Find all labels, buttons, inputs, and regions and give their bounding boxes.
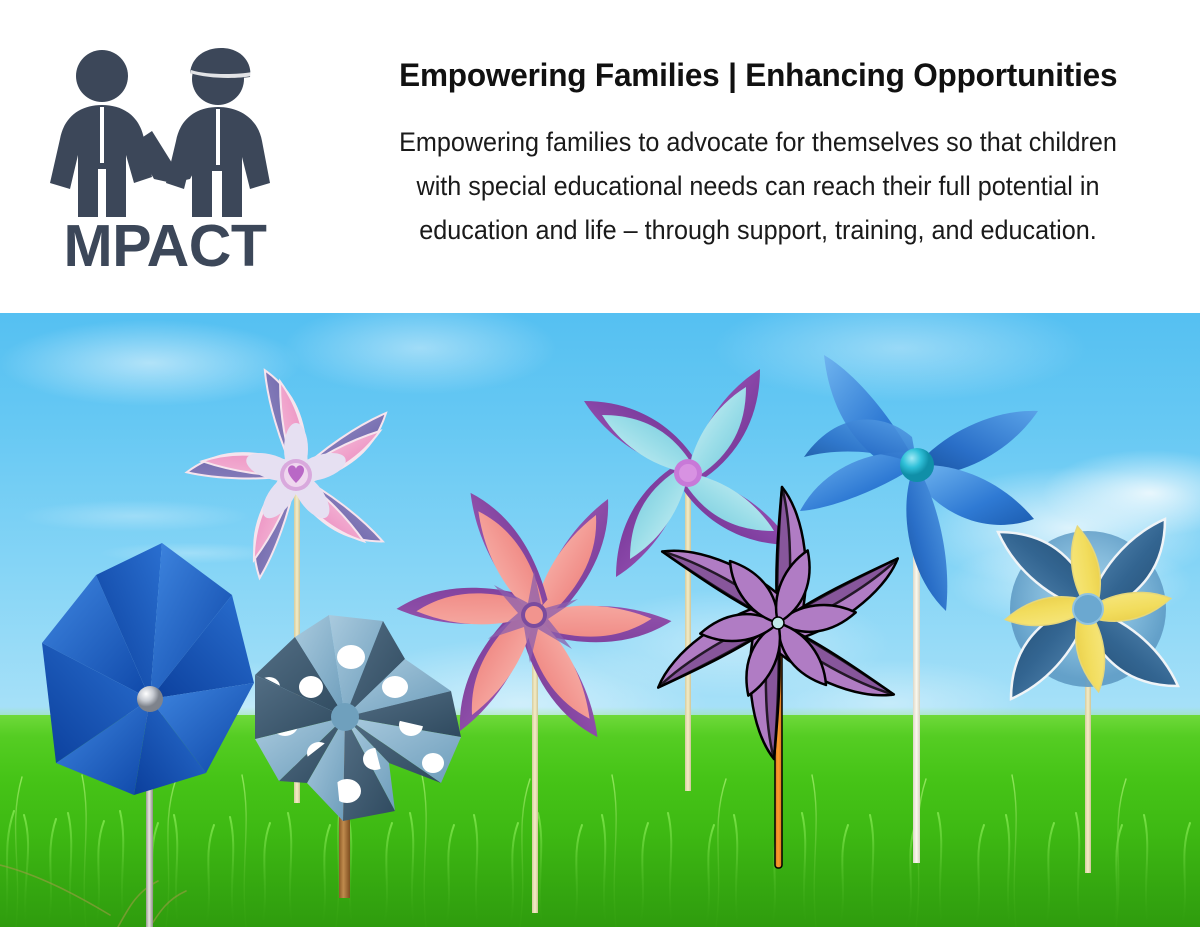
- polka-dot-fabric-pinwheel: [255, 613, 505, 913]
- tagline: Empowering families to advocate for them…: [378, 120, 1138, 252]
- large-purple-origami-pinwheel: [650, 473, 940, 893]
- pinwheel-hub: [137, 686, 163, 712]
- pinwheel-field-scene: [0, 313, 1200, 927]
- logo-wordmark: MPACT: [64, 217, 267, 276]
- pinwheel-hub: [1073, 594, 1103, 624]
- pinwheel-hub: [772, 617, 784, 629]
- mpact-banner: MPACT Empowering Families | Enhancing Op…: [0, 0, 1200, 927]
- header: MPACT Empowering Families | Enhancing Op…: [0, 0, 1200, 313]
- pinwheel-hub: [331, 703, 359, 731]
- mpact-two-figures-logo-icon: [40, 43, 290, 223]
- logo: MPACT: [0, 0, 330, 313]
- large-purple-origami-pinwheel-svg: [650, 473, 940, 893]
- polka-dot-fabric-pinwheel-svg: [255, 613, 505, 913]
- blue-yellow-pinwheel-right: [985, 463, 1195, 883]
- blue-yellow-pinwheel-right-svg: [985, 463, 1195, 883]
- header-text: Empowering Families | Enhancing Opportun…: [330, 0, 1200, 313]
- headline: Empowering Families | Enhancing Opportun…: [399, 57, 1117, 94]
